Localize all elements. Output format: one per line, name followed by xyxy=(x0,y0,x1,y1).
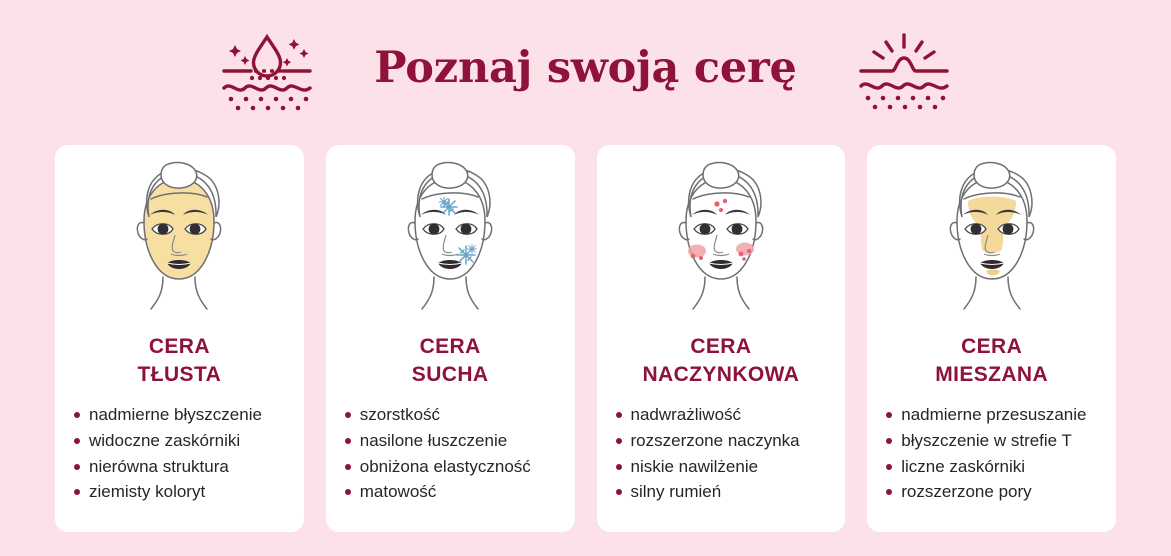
card-title-line1: CERA xyxy=(935,333,1048,361)
list-item: widoczne zaskórniki xyxy=(73,428,304,454)
card-title-line2: MIESZANA xyxy=(935,361,1048,389)
card-title-line1: CERA xyxy=(642,333,799,361)
list-item: szorstkość xyxy=(344,402,575,428)
face-oily-skin-icon xyxy=(89,159,269,323)
card-title-line1: CERA xyxy=(412,333,489,361)
list-item: rozszerzone pory xyxy=(885,479,1116,505)
list-item: nadmierne błyszczenie xyxy=(73,402,304,428)
list-item: nadmierne przesuszanie xyxy=(885,402,1116,428)
list-item: niskie nawilżenie xyxy=(615,454,846,480)
card-title-oily: CERA TŁUSTA xyxy=(138,333,222,388)
skin-type-card-oily[interactable]: CERA TŁUSTA nadmierne błyszczenie widocz… xyxy=(55,145,304,532)
card-title-combination: CERA MIESZANA xyxy=(935,333,1048,388)
header: Poznaj swoją cerę xyxy=(0,18,1171,123)
card-title-line2: NACZYNKOWA xyxy=(642,361,799,389)
skin-bump-sun-rays-icon xyxy=(855,31,953,111)
card-title-line2: TŁUSTA xyxy=(138,361,222,389)
face-dry-skin-icon xyxy=(360,159,540,323)
list-item: rozszerzone naczynka xyxy=(615,428,846,454)
list-item: nasilone łuszczenie xyxy=(344,428,575,454)
skin-type-card-combination[interactable]: CERA MIESZANA nadmierne przesuszanie bły… xyxy=(867,145,1116,532)
skin-type-card-couperose[interactable]: CERA NACZYNKOWA nadwrażliwość rozszerzon… xyxy=(597,145,846,532)
card-title-line1: CERA xyxy=(138,333,222,361)
list-item: nierówna struktura xyxy=(73,454,304,480)
feature-list-combination: nadmierne przesuszanie błyszczenie w str… xyxy=(867,402,1116,505)
list-item: błyszczenie w strefie T xyxy=(885,428,1116,454)
water-drop-skin-layers-icon xyxy=(218,31,316,111)
skin-type-card-list: CERA TŁUSTA nadmierne błyszczenie widocz… xyxy=(55,145,1116,532)
skin-type-card-dry[interactable]: CERA SUCHA szorstkość nasilone łuszczeni… xyxy=(326,145,575,532)
list-item: matowość xyxy=(344,479,575,505)
face-couperose-skin-icon xyxy=(631,159,811,323)
card-title-line2: SUCHA xyxy=(412,361,489,389)
card-title-couperose: CERA NACZYNKOWA xyxy=(642,333,799,388)
list-item: silny rumień xyxy=(615,479,846,505)
page-title: Poznaj swoją cerę xyxy=(374,47,796,94)
list-item: nadwrażliwość xyxy=(615,402,846,428)
list-item: liczne zaskórniki xyxy=(885,454,1116,480)
infographic-root: Poznaj swoją cerę xyxy=(0,0,1171,556)
list-item: obniżona elastyczność xyxy=(344,454,575,480)
feature-list-dry: szorstkość nasilone łuszczenie obniżona … xyxy=(326,402,575,505)
feature-list-couperose: nadwrażliwość rozszerzone naczynka niski… xyxy=(597,402,846,505)
list-item: ziemisty koloryt xyxy=(73,479,304,505)
face-combination-skin-icon xyxy=(902,159,1082,323)
card-title-dry: CERA SUCHA xyxy=(412,333,489,388)
feature-list-oily: nadmierne błyszczenie widoczne zaskórnik… xyxy=(55,402,304,505)
